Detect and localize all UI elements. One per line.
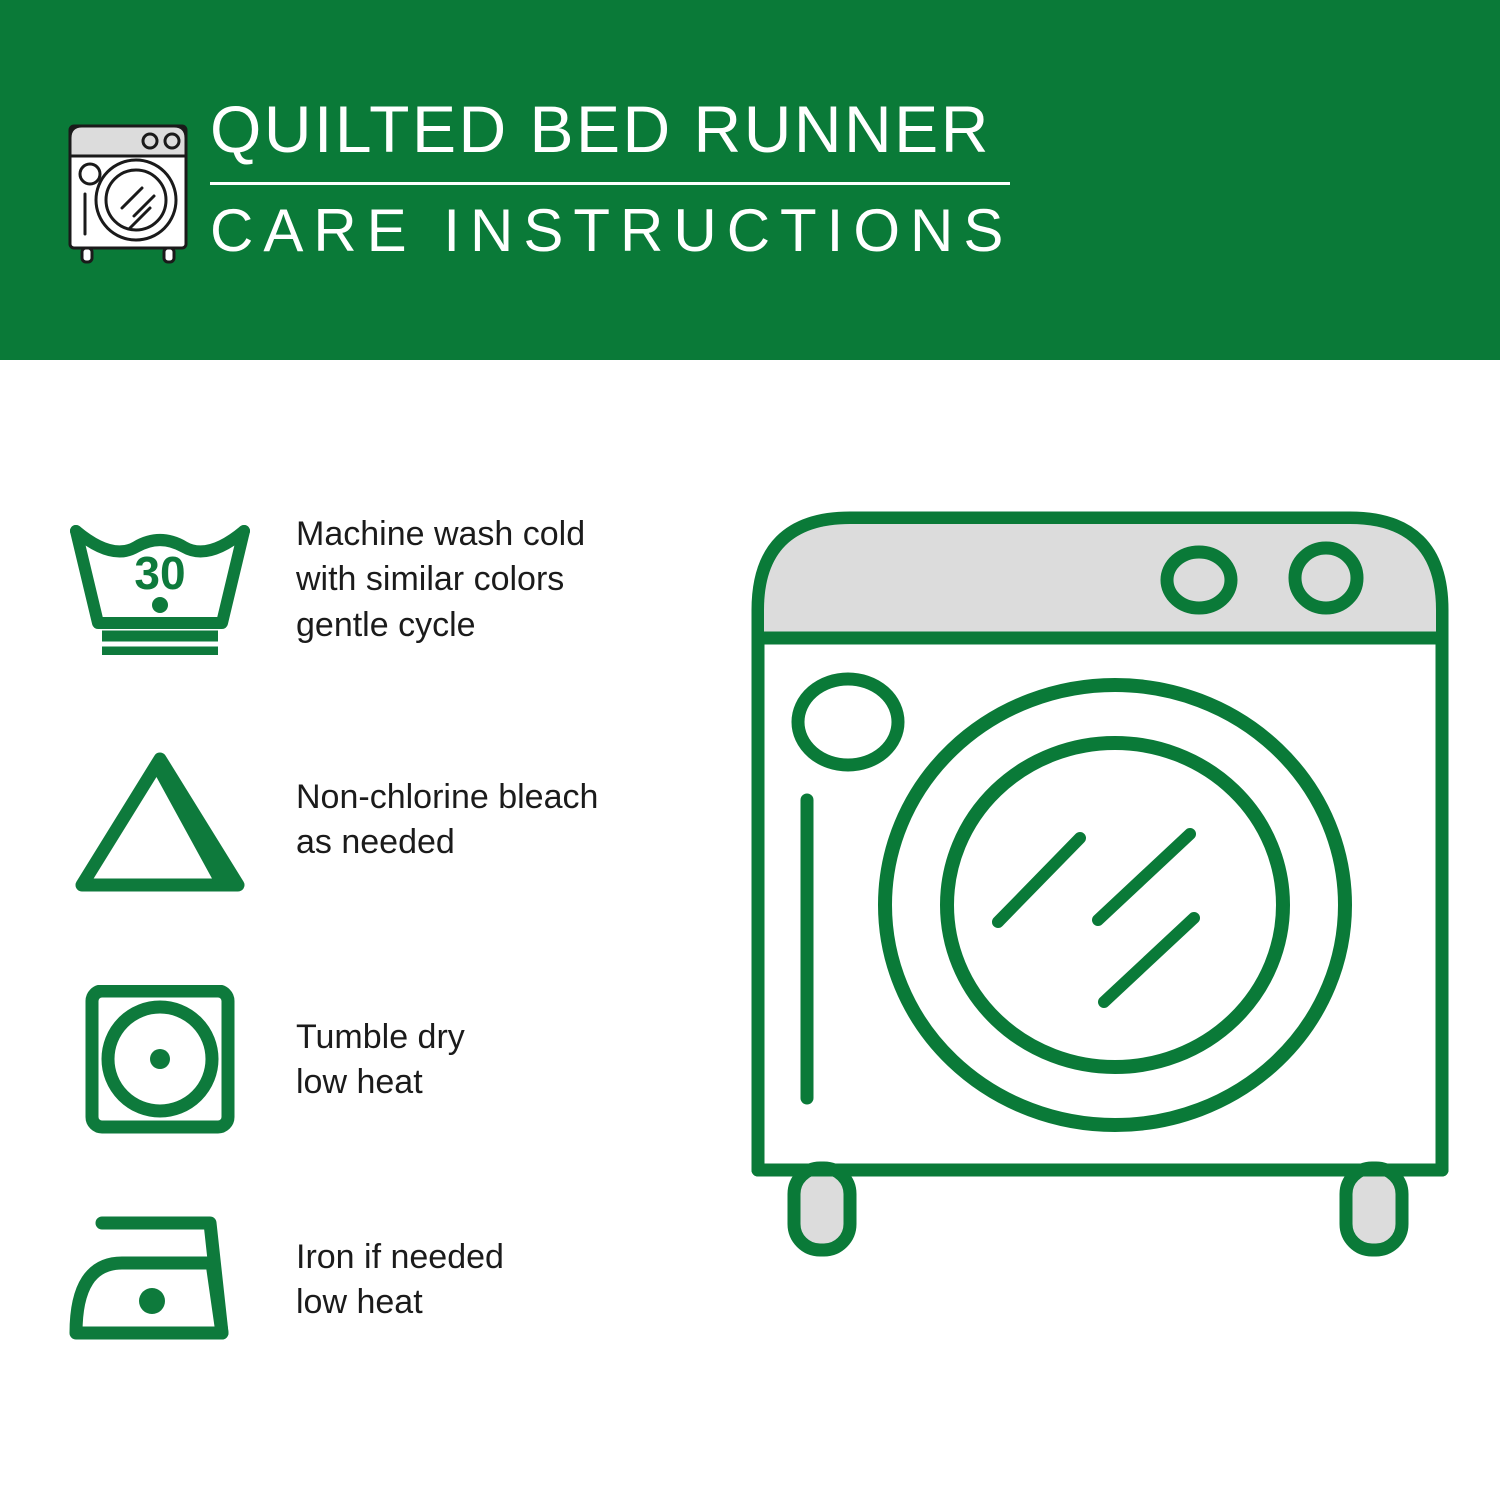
care-row-text-bleach: Non-chlorine bleach as needed bbox=[260, 775, 680, 865]
page-subtitle: CARE INSTRUCTIONS bbox=[210, 201, 1030, 261]
care-text-line: Machine wash cold bbox=[296, 512, 680, 557]
wash-tub-30-gentle-icon: 30 bbox=[60, 505, 260, 655]
care-text-line: Non-chlorine bleach bbox=[296, 775, 680, 820]
iron-low-heat-icon bbox=[60, 1205, 260, 1355]
washing-machine-icon bbox=[58, 104, 198, 264]
machine-foot-left bbox=[794, 1168, 850, 1250]
tumble-dry-low-icon bbox=[60, 985, 260, 1135]
wash-temperature-label: 30 bbox=[134, 547, 185, 599]
header-text-block: QUILTED BED RUNNER CARE INSTRUCTIONS bbox=[210, 96, 1030, 261]
care-text-line: low heat bbox=[296, 1280, 680, 1325]
care-instruction-list: 30 Machine wash cold with similar colors… bbox=[0, 360, 700, 1500]
care-text-line: Iron if needed bbox=[296, 1235, 680, 1280]
care-row-machine-wash: 30 Machine wash cold with similar colors… bbox=[60, 505, 680, 655]
care-text-line: with similar colors bbox=[296, 557, 680, 602]
washing-machine-illustration bbox=[730, 490, 1470, 1410]
care-row-bleach: Non-chlorine bleach as needed bbox=[60, 745, 680, 895]
care-row-iron: Iron if needed low heat bbox=[60, 1205, 680, 1355]
care-text-line: Tumble dry bbox=[296, 1015, 680, 1060]
header-band: QUILTED BED RUNNER CARE INSTRUCTIONS bbox=[0, 0, 1500, 360]
page-title: QUILTED BED RUNNER bbox=[210, 96, 1030, 162]
care-text-line: as needed bbox=[296, 820, 680, 865]
care-row-tumble-dry: Tumble dry low heat bbox=[60, 985, 680, 1135]
care-text-line: gentle cycle bbox=[296, 603, 680, 648]
control-panel bbox=[764, 524, 1436, 638]
care-text-line: low heat bbox=[296, 1060, 680, 1105]
care-row-text-machine-wash: Machine wash cold with similar colors ge… bbox=[260, 512, 680, 648]
care-row-text-iron: Iron if needed low heat bbox=[260, 1235, 680, 1325]
care-instructions-page: QUILTED BED RUNNER CARE INSTRUCTIONS 30 bbox=[0, 0, 1500, 1500]
title-divider bbox=[210, 182, 1010, 185]
machine-foot-right bbox=[1346, 1168, 1402, 1250]
non-chlorine-bleach-triangle-icon bbox=[60, 745, 260, 895]
care-row-text-tumble-dry: Tumble dry low heat bbox=[260, 1015, 680, 1105]
